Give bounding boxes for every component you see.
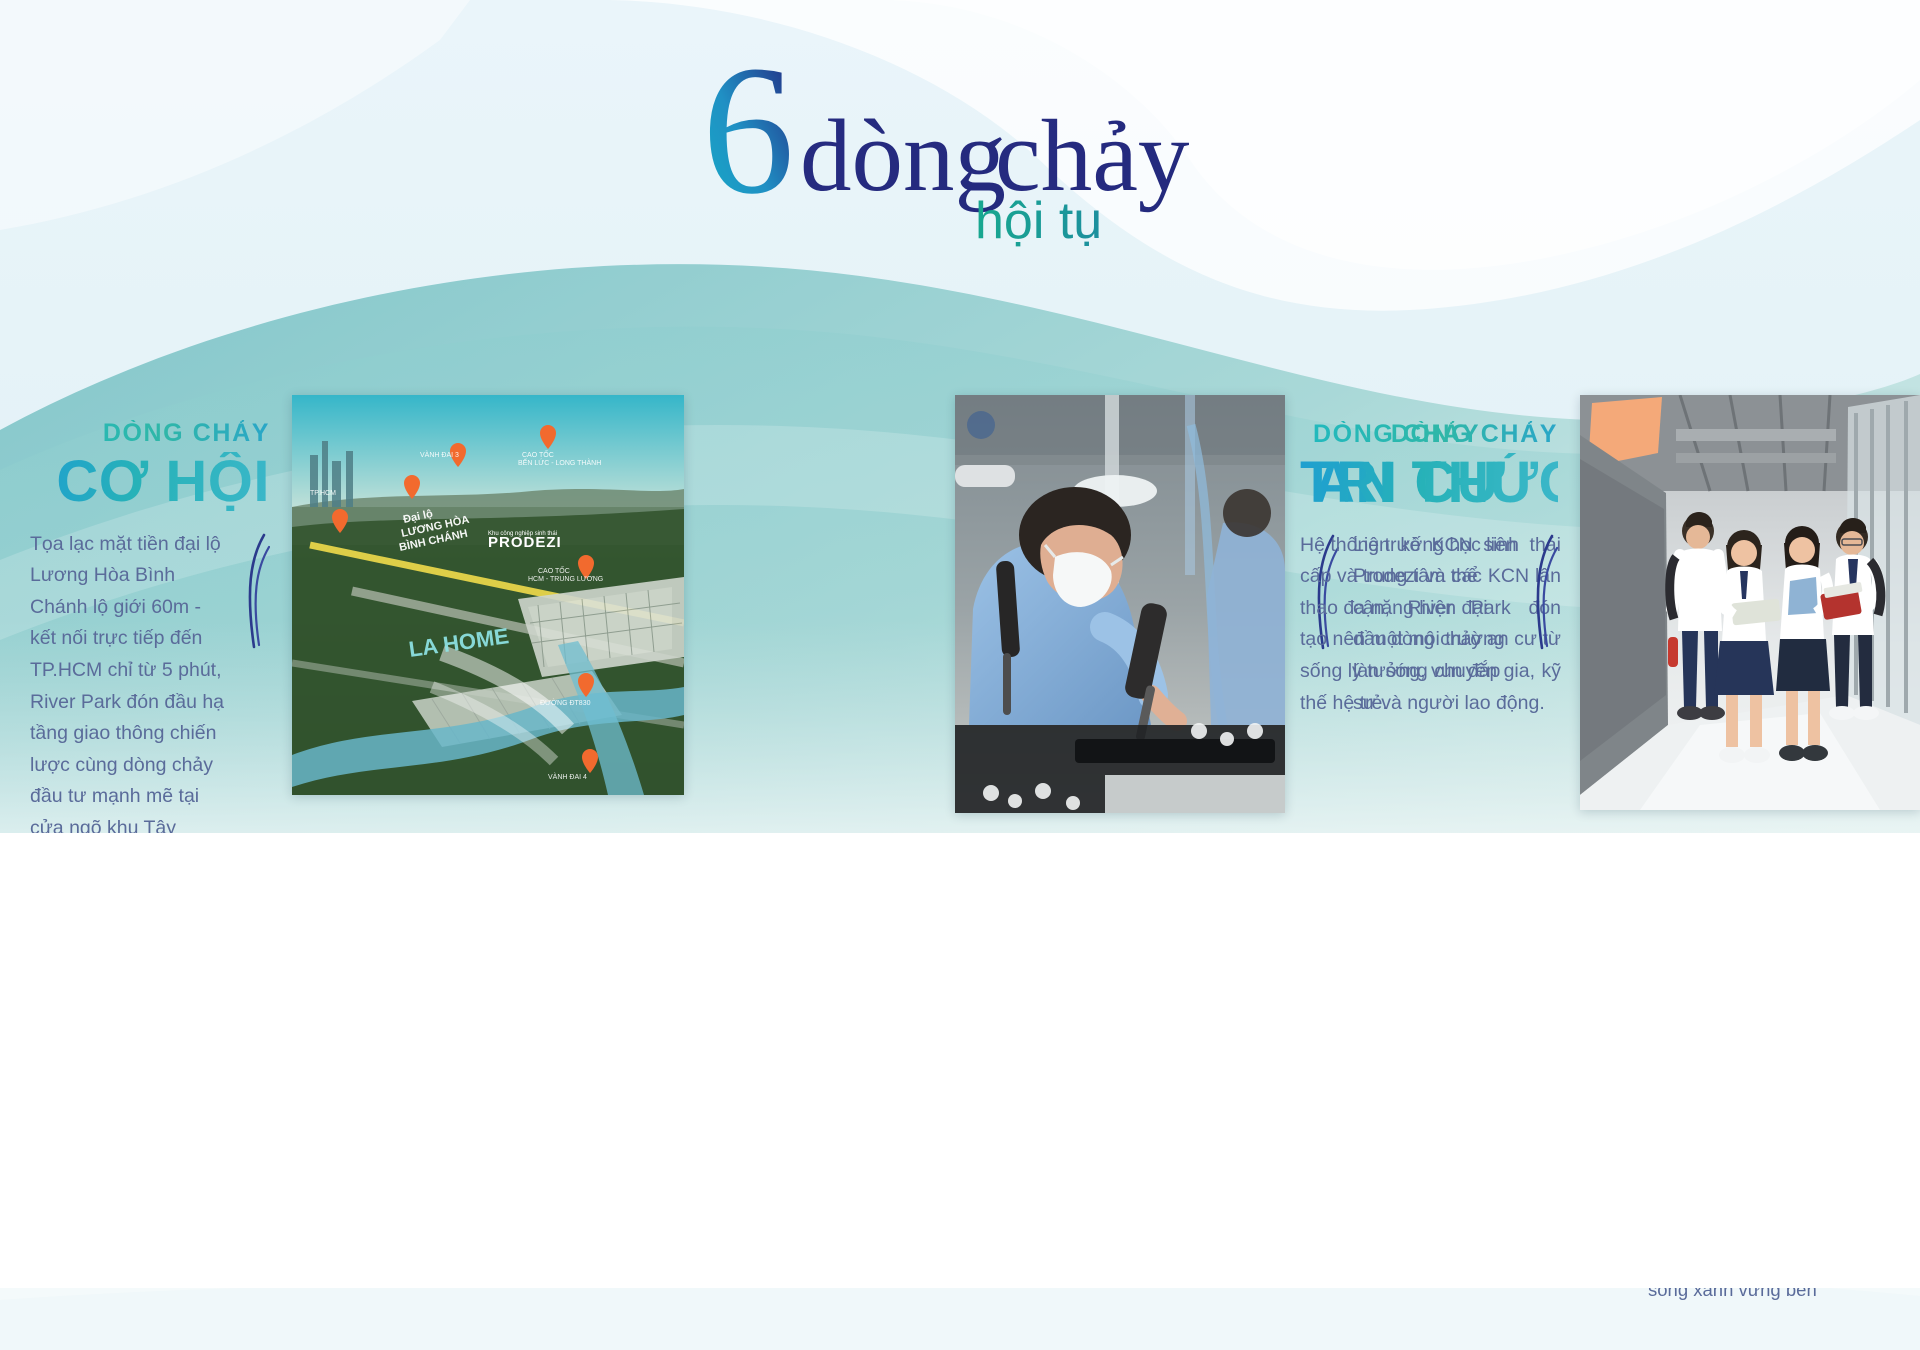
photo-label-dt830: ĐƯỜNG ĐT830 [540, 698, 591, 707]
card-tri-thuc-text: DÒNG CHẢY TRI THỨC Hệ thống trường học l… [1300, 395, 1558, 719]
photo-label-vanhdai3: VÀNH ĐAI 3 [420, 450, 459, 459]
card-co-hoi-body-wrap: Tọa lạc mặt tiền đại lộ Lương Hòa Bình C… [30, 529, 270, 876]
hero-title: 6 dòng chảy hội tụ [0, 40, 1920, 270]
factory-worker-illustration [955, 395, 1285, 813]
photo-label-caotoc-tl2: HCM - TRUNG LƯƠNG [528, 576, 603, 583]
card-co-hoi-kicker: DÒNG CHẢY [30, 420, 270, 448]
card-an-cu-photo [955, 395, 1285, 813]
card-co-hoi-title: CƠ HỘI [30, 452, 270, 511]
students-corridor-illustration [1580, 395, 1920, 810]
card-co-hoi-body: Tọa lạc mặt tiền đại lộ Lương Hòa Bình C… [30, 529, 230, 876]
card-tri-thuc-title: TRI THỨC [1300, 453, 1558, 512]
card-co-hoi: DÒNG CHẢY CƠ HỘI Tọa lạc mặt tiền đại lộ… [30, 395, 710, 876]
hero-word-hoitu: hội tụ [975, 192, 1102, 250]
hero-title-art: 6 dòng chảy hội tụ [650, 40, 1270, 250]
hero-numeral: 6 [702, 40, 795, 233]
card-tri-thuc-kicker: DÒNG CHẢY [1300, 421, 1558, 449]
card-tri-thuc: DÒNG CHẢY TRI THỨC Hệ thống trường học l… [1300, 395, 1920, 810]
aerial-masterplan-illustration: TP.HCM VÀNH ĐAI 3 CAO TỐC BẾN LỨC - LONG… [292, 395, 684, 795]
card-tri-thuc-body: Hệ thống trường học liên cấp và trung tâ… [1300, 530, 1518, 719]
card-co-hoi-photo: TP.HCM VÀNH ĐAI 3 CAO TỐC BẾN LỨC - LONG… [292, 395, 684, 795]
water-swoosh-icon [1532, 534, 1558, 652]
card-tri-thuc-body-wrap: Hệ thống trường học liên cấp và trung tâ… [1300, 530, 1558, 719]
photo-label-tphcm: TP.HCM [310, 490, 336, 497]
card-co-hoi-text: DÒNG CHẢY CƠ HỘI Tọa lạc mặt tiền đại lộ… [30, 395, 270, 876]
water-swoosh-icon [244, 533, 270, 651]
photo-label-vanhdai4: VÀNH ĐAI 4 [548, 772, 587, 781]
card-tri-thuc-photo [1580, 395, 1920, 810]
bottom-white-band [0, 833, 1920, 1288]
photo-label-prodezi-sub: Khu công nghiệp sinh thái [488, 531, 557, 537]
